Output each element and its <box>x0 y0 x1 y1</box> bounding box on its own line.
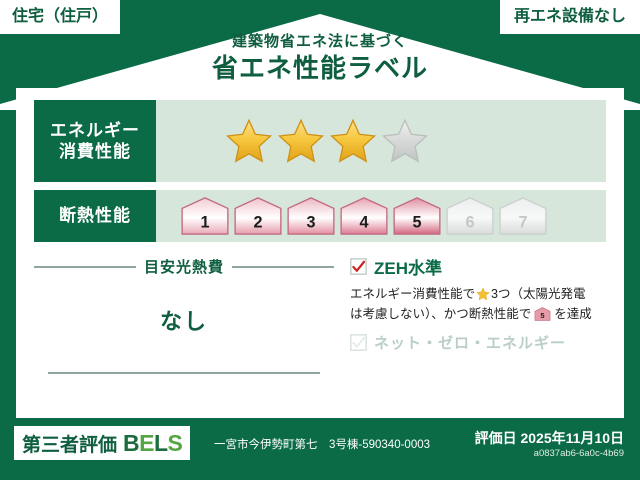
insulation-performance-value: 1234567 <box>156 190 606 242</box>
label-body-card: エネルギー 消費性能 断熱性能 1234567 目安光熱費 <box>16 88 624 418</box>
insulation-level-number: 2 <box>253 213 262 231</box>
evaluation-id: a0837ab6-6a0c-4b69 <box>534 448 624 459</box>
insulation-label-head: 断熱性能 <box>34 190 156 242</box>
evaluation-date: 評価日 2025年11月10日 <box>475 428 624 448</box>
property-address: 一宮市今伊勢町第七 3号棟-590340-0003 <box>214 436 430 452</box>
cost-rule-left <box>34 266 136 268</box>
zeh-description-line1: エネルギー消費性能で 3つ（太陽光発電 <box>350 285 606 303</box>
insulation-level-filled-icon: 2 <box>233 196 283 236</box>
inline-house-badge-icon: 5 <box>534 307 551 321</box>
zeh-desc-part3: は考慮しない）、かつ断熱性能で <box>350 305 531 323</box>
unchecked-checkbox-icon[interactable] <box>350 334 367 351</box>
energy-performance-row: エネルギー 消費性能 <box>34 100 606 182</box>
checked-checkbox-icon[interactable] <box>350 258 367 275</box>
bels-letter-s: S <box>168 430 183 456</box>
bels-badge-jp: 第三者評価 <box>22 430 117 457</box>
star-empty-icon <box>382 118 428 164</box>
title-main: 省エネ性能ラベル <box>0 54 640 83</box>
lower-section: 目安光熱費 なし ZEH水準 エネルギー消費性能で <box>34 254 606 402</box>
title-subtitle: 建築物省エネ法に基づく <box>0 34 640 51</box>
insulation-level-empty-icon: 6 <box>445 196 495 236</box>
insulation-level-number: 5 <box>412 213 421 231</box>
insulation-level-filled-icon: 5 <box>392 196 442 236</box>
bels-letter-b: B <box>123 430 139 456</box>
zeh-description-line2: は考慮しない）、かつ断熱性能で 5 を達成 <box>350 305 606 323</box>
star-filled-icon <box>330 118 376 164</box>
cost-heading-row: 目安光熱費 <box>34 256 334 277</box>
energy-label-line1: エネルギー <box>50 120 140 141</box>
net-zero-energy-row: ネット・ゼロ・エネルギー <box>350 332 606 353</box>
zeh-block: ZEH水準 エネルギー消費性能で 3つ（太陽光発電 は考慮しない）、かつ断熱性能… <box>334 254 606 402</box>
zeh-desc-part2: 3つ（太陽光発電 <box>491 285 585 303</box>
insulation-level-empty-icon: 7 <box>498 196 548 236</box>
net-zero-energy-label: ネット・ゼロ・エネルギー <box>374 332 566 353</box>
bels-letter-l: L <box>154 430 168 456</box>
renewable-equipment-tag: 再エネ設備なし <box>500 0 640 34</box>
zeh-desc-part4: を達成 <box>554 305 592 323</box>
insulation-level-filled-icon: 3 <box>286 196 336 236</box>
cost-bottom-rule <box>48 372 320 374</box>
zeh-title-text: ZEH水準 <box>374 254 442 279</box>
star-filled-icon <box>278 118 324 164</box>
cost-rule-right <box>232 266 334 268</box>
insulation-scale: 1234567 <box>156 196 548 236</box>
bels-letter-e: E <box>139 430 154 456</box>
svg-text:5: 5 <box>541 311 545 320</box>
energy-label-line2: 消費性能 <box>59 141 131 162</box>
cost-heading-text: 目安光熱費 <box>144 256 224 277</box>
energy-performance-label: 住宅（住戸） 再エネ設備なし 建築物省エネ法に基づく 省エネ性能ラベル エネルギ… <box>0 0 640 480</box>
insulation-level-filled-icon: 4 <box>339 196 389 236</box>
energy-performance-label-head: エネルギー 消費性能 <box>34 100 156 182</box>
bels-badge: 第三者評価 BELS <box>14 426 190 460</box>
insulation-level-number: 6 <box>465 213 474 231</box>
cost-value: なし <box>34 304 334 336</box>
zeh-title-row: ZEH水準 <box>350 254 606 279</box>
insulation-level-filled-icon: 1 <box>180 196 230 236</box>
bels-badge-en: BELS <box>123 430 182 457</box>
energy-performance-value <box>156 100 606 182</box>
building-type-tag: 住宅（住戸） <box>0 0 120 34</box>
insulation-label: 断熱性能 <box>59 205 131 226</box>
insulation-performance-row: 断熱性能 1234567 <box>34 190 606 242</box>
estimated-utility-cost-block: 目安光熱費 なし <box>34 254 334 402</box>
label-footer: 第三者評価 BELS 一宮市今伊勢町第七 3号棟-590340-0003 評価日… <box>0 424 640 480</box>
insulation-level-number: 7 <box>518 213 527 231</box>
inline-star-icon <box>476 287 490 301</box>
zeh-desc-part1: エネルギー消費性能で <box>350 285 475 303</box>
insulation-level-number: 3 <box>306 213 315 231</box>
insulation-level-number: 4 <box>359 213 368 231</box>
insulation-level-number: 1 <box>200 213 209 231</box>
star-filled-icon <box>226 118 272 164</box>
star-rating <box>156 118 428 164</box>
label-title: 建築物省エネ法に基づく 省エネ性能ラベル <box>0 34 640 82</box>
